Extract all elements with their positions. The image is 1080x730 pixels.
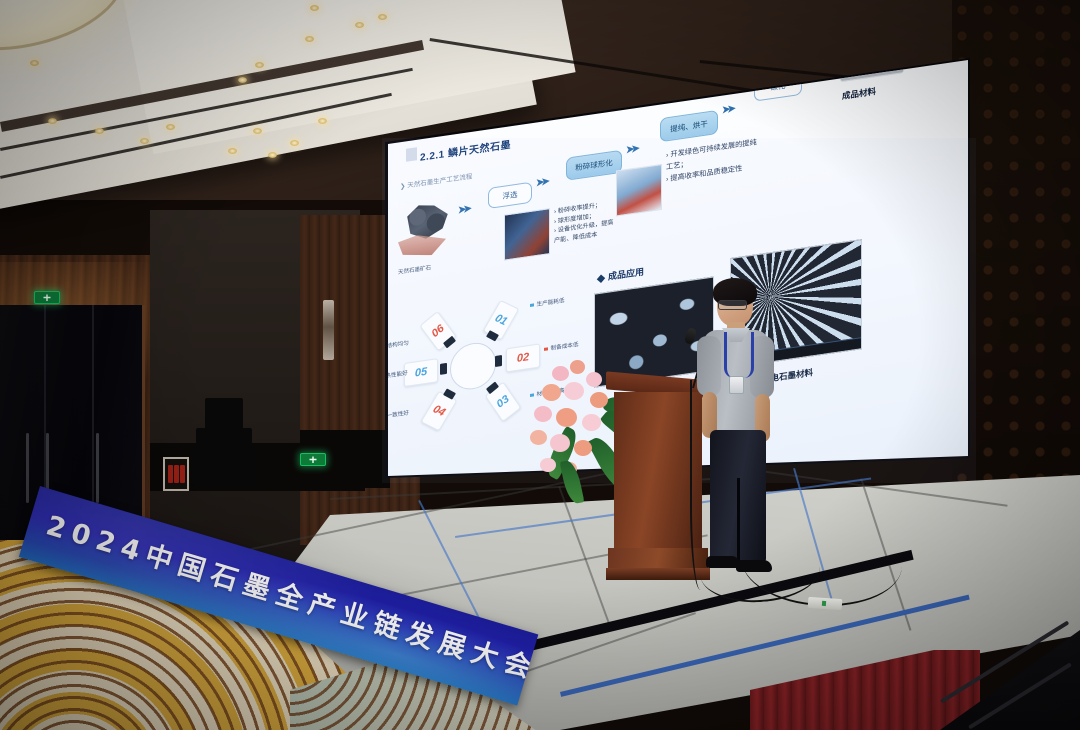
wheel-label-left-2: 一致性好 (380, 408, 409, 420)
section-heading-text: 成品应用 (608, 267, 644, 282)
exit-sign-center (300, 453, 326, 466)
flower-bloom (564, 382, 584, 400)
label-marker (380, 345, 384, 349)
label-marker (544, 347, 548, 351)
ceiling-spotlight (253, 128, 262, 134)
mic-cable (690, 380, 716, 590)
wheel-number-05: 05 (404, 358, 438, 387)
presenter-lanyard (724, 332, 754, 378)
wheel-label-right-0: 生产能耗低 (530, 296, 564, 309)
start-caption: 天然石墨矿石 (398, 263, 431, 276)
ceiling-spotlight (255, 62, 264, 68)
label-marker (380, 415, 384, 419)
ceiling-spotlight (48, 118, 57, 124)
power-strip[interactable] (808, 597, 843, 610)
wheel-label-text: 结构均匀 (387, 340, 409, 349)
ceiling-spotlight (140, 138, 149, 144)
ceiling-spotlight (30, 60, 39, 66)
flower-bloom (586, 372, 602, 387)
ceiling-spotlight (95, 128, 104, 134)
wheel-label-left-0: 结构均匀 (380, 338, 409, 350)
flower-bloom (570, 360, 585, 374)
slide-subtitle-bullet: ❯ 天然石墨生产工艺流程 (400, 170, 472, 190)
slide-title: 2.2.1 鳞片天然石墨 (420, 136, 511, 164)
flower-bloom (550, 434, 570, 452)
wheel-label-text: 生产能耗低 (537, 298, 565, 308)
flower-bloom (552, 366, 569, 381)
process-thumbnail-1 (504, 208, 550, 261)
wall-sconce-light (323, 300, 334, 360)
presenter-badge (729, 376, 744, 394)
extinguisher-bottle (174, 465, 179, 483)
ceiling-spotlight (166, 124, 175, 130)
flow-arrow-icon: ➤➤ (458, 204, 469, 217)
notes-group-2: › 开发绿色可持续发展的提纯工艺； › 提高收率和品质稳定性 (666, 136, 758, 186)
ceiling-spotlight (268, 152, 277, 158)
wheel-nub (440, 363, 447, 375)
wheel-label-right-1: 制备成本低 (544, 340, 578, 353)
power-led-icon (822, 601, 826, 606)
door-handle[interactable] (26, 433, 29, 503)
flow-step-2: 提纯、烘干 (660, 110, 718, 142)
wall-patterned-right (952, 0, 1080, 560)
flower-bloom (582, 414, 601, 431)
ceiling-spotlight (238, 77, 247, 83)
podium-body (614, 392, 702, 552)
ceiling-spotlight (310, 5, 319, 11)
ceiling-spotlight (378, 14, 387, 20)
flow-arrow-icon: ➤➤ (626, 144, 637, 157)
diamond-bullet-icon (597, 274, 605, 282)
presenter-glasses (718, 300, 747, 310)
flower-bloom (556, 408, 577, 427)
wheel-number-06: 06 (419, 311, 456, 351)
exit-sign-left (34, 291, 60, 304)
wheel-nub (495, 355, 502, 367)
exit-cross-glyph (44, 294, 51, 301)
flower-bloom (534, 406, 552, 422)
extinguisher-bottle (180, 465, 185, 483)
title-accent-mark (406, 147, 417, 162)
ceiling-spotlight (355, 22, 364, 28)
flower-bloom (540, 458, 556, 472)
palm-leaf (560, 459, 585, 505)
label-marker (530, 303, 534, 307)
flow-arrow-icon: ➤➤ (536, 177, 547, 190)
wheel-center-ring (450, 340, 496, 393)
speaker-stack-bottom (192, 452, 256, 486)
flow-arrow-icon: ➤➤ (806, 64, 817, 77)
subtitle-text: 天然石墨生产工艺流程 (407, 173, 472, 189)
end-caption: 成品材料 (842, 85, 876, 102)
door-handle[interactable] (96, 433, 99, 503)
conference-photo-scene: BTR 2.2.1 鳞片天然石墨 ❯ 天然石墨生产工艺流程 天然石墨矿石 ➤➤ … (0, 0, 1080, 730)
flower-bloom (590, 392, 608, 408)
notes-group-1: › 粉碎收率提升； › 球形度增加； › 设备优化升级，提高产能、降低成本 (554, 199, 616, 246)
process-thumbnail-2 (616, 164, 662, 217)
wheel-label-text: 导电导热性能好 (369, 371, 408, 383)
flow-step-1: 粉碎球形化 (566, 150, 622, 181)
flower-bloom (542, 384, 561, 401)
exit-cross-glyph (310, 456, 317, 463)
ceiling-spotlight (305, 36, 314, 42)
ceiling-spotlight (228, 148, 237, 154)
chevron-icon: ❯ (400, 183, 405, 191)
extinguisher-bottle (168, 465, 173, 483)
wheel-label-text: 一致性好 (387, 410, 409, 419)
wheel-label-text: 制备成本低 (551, 342, 579, 352)
fire-extinguisher-cabinet (163, 457, 189, 491)
flow-arrow-icon: ➤➤ (722, 104, 733, 117)
section-heading: 成品应用 (598, 265, 644, 285)
flow-step-0: 浮选 (488, 182, 532, 209)
flower-bloom (574, 440, 592, 456)
flower-bloom (530, 430, 547, 445)
ceiling-spotlight (290, 140, 299, 146)
ceiling-spotlight (318, 118, 327, 124)
